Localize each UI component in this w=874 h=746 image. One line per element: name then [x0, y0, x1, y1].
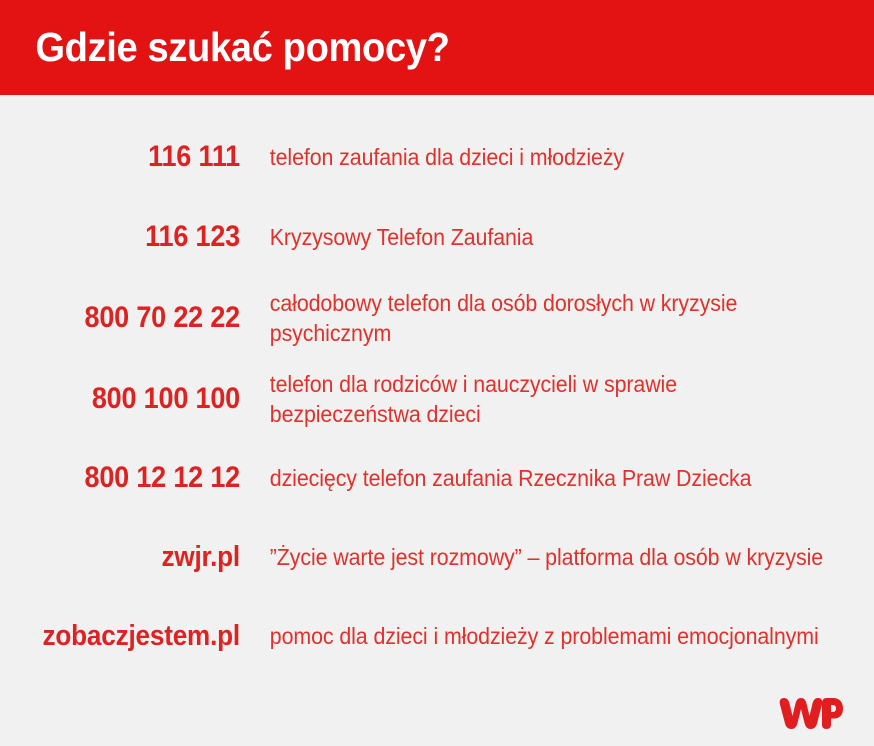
helpline-description: Kryzysowy Telefon Zaufania	[240, 222, 824, 252]
helpline-number: zwjr.pl	[24, 542, 240, 573]
helpline-description: dziecięcy telefon zaufania Rzecznika Pra…	[240, 463, 824, 493]
helpline-description: telefon zaufania dla dzieci i młodzieży	[240, 142, 824, 172]
helpline-number: zobaczjestem.pl	[24, 621, 240, 652]
helpline-number: 800 100 100	[24, 383, 240, 415]
helpline-description: ”Życie warte jest rozmowy” – platforma d…	[240, 542, 824, 572]
helpline-number: 116 111	[24, 141, 240, 173]
helpline-number: 800 12 12 12	[24, 462, 240, 494]
table-row: 116 123 Kryzysowy Telefon Zaufania	[0, 197, 874, 277]
wp-logo-icon	[779, 694, 843, 730]
helpline-description: całodobowy telefon dla osób dorosłych w …	[240, 288, 824, 349]
helpline-description: telefon dla rodziców i nauczycieli w spr…	[240, 369, 824, 430]
table-row: 800 70 22 22 całodobowy telefon dla osób…	[0, 277, 874, 360]
header-banner: Gdzie szukać pomocy?	[0, 0, 874, 95]
table-row: 116 111 telefon zaufania dla dzieci i mł…	[0, 117, 874, 197]
table-row: zobaczjestem.pl pomoc dla dzieci i młodz…	[0, 598, 874, 675]
infographic-root: Gdzie szukać pomocy? 116 111 telefon zau…	[0, 0, 874, 746]
table-row: 800 100 100 telefon dla rodziców i naucz…	[0, 359, 874, 439]
helpline-number: 116 123	[24, 221, 240, 253]
table-row: 800 12 12 12 dziecięcy telefon zaufania …	[0, 439, 874, 517]
helpline-table: 116 111 telefon zaufania dla dzieci i mł…	[0, 95, 874, 675]
helpline-description: pomoc dla dzieci i młodzieży z problemam…	[240, 621, 824, 651]
page-title: Gdzie szukać pomocy?	[0, 27, 450, 68]
helpline-number: 800 70 22 22	[24, 302, 240, 334]
table-row: zwjr.pl ”Życie warte jest rozmowy” – pla…	[0, 517, 874, 598]
